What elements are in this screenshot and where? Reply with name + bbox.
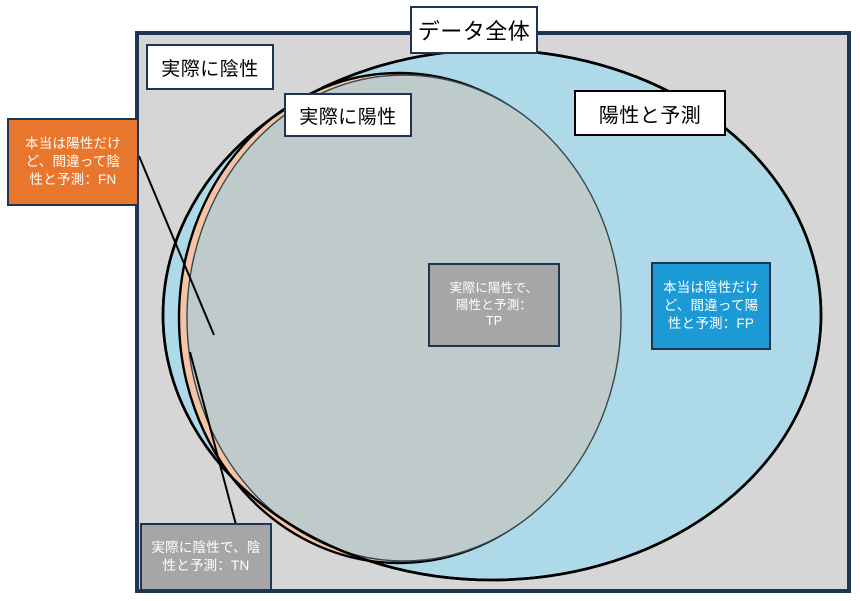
callout-tp-line-3: TP [446, 313, 542, 330]
callout-tp-line-2: 陽性と予測： [446, 297, 542, 314]
callout-tn-line-1: 実際に陰性で、陰 [147, 539, 264, 557]
callout-fp-line-3: 性と予測：FP [659, 315, 763, 333]
label-predicted-positive: 陽性と予測 [574, 90, 726, 136]
callout-true-positive: 実際に陽性で、 陽性と予測： TP [428, 263, 560, 347]
label-actual-positive: 実際に陽性 [284, 93, 412, 137]
callout-false-negative: 本当は陽性だけ ど、間違って陰 性と予測：FN [7, 118, 139, 206]
label-universe-text: データ全体 [418, 14, 531, 46]
callout-fn-line-1: 本当は陽性だけ [21, 135, 125, 153]
label-actual-negative-text: 実際に陰性 [161, 54, 259, 81]
callout-fn-line-3: 性と予測：FN [21, 171, 125, 189]
label-universe: データ全体 [410, 6, 538, 54]
label-actual-negative: 実際に陰性 [146, 44, 274, 90]
callout-fp-line-2: ど、間違って陽 [659, 297, 763, 315]
callout-tp-line-1: 実際に陽性で、 [446, 280, 542, 297]
diagram-canvas: データ全体 実際に陰性 実際に陽性 陽性と予測 本当は陽性だけ ど、間違って陰 … [0, 0, 860, 601]
callout-false-positive: 本当は陰性だけ ど、間違って陽 性と予測：FP [651, 262, 771, 350]
callout-tn-line-2: 性と予測：TN [147, 557, 264, 575]
label-predicted-positive-text: 陽性と予測 [599, 99, 702, 128]
callout-fp-line-1: 本当は陰性だけ [659, 279, 763, 297]
callout-fn-line-2: ど、間違って陰 [21, 153, 125, 171]
callout-true-negative: 実際に陰性で、陰 性と予測：TN [140, 523, 272, 591]
label-actual-positive-text: 実際に陽性 [299, 102, 397, 129]
